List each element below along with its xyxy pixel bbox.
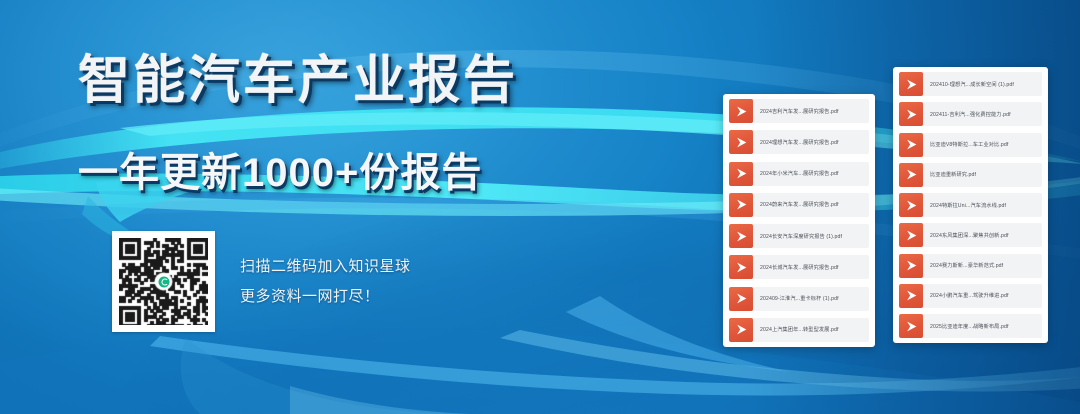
file-name: 比亚迪V8特斯拉...车工业对比.pdf: [923, 141, 1042, 148]
file-row[interactable]: 2024东风集团深...聚焦共创新.pdf: [899, 223, 1042, 247]
file-row[interactable]: 2024上汽集团年...转型型发展.pdf: [729, 318, 869, 342]
file-name: 2024长安汽车深度研究报告 (1).pdf: [753, 233, 869, 240]
file-row[interactable]: 202410-理想汽...成长新空间 (1).pdf: [899, 72, 1042, 96]
pdf-icon: [899, 133, 923, 157]
file-name: 2024小鹏汽车重...驾驶升维进.pdf: [923, 292, 1042, 299]
file-row[interactable]: 2024长安汽车深度研究报告 (1).pdf: [729, 224, 869, 248]
file-row[interactable]: 2025比亚迪年度...战略新布局.pdf: [899, 314, 1042, 338]
pdf-icon: [899, 102, 923, 126]
file-row[interactable]: 2024理想汽车发...展研究报告.pdf: [729, 130, 869, 154]
file-name: 2024上汽集团年...转型型发展.pdf: [753, 326, 869, 333]
pdf-icon: [729, 162, 753, 186]
file-panel-right[interactable]: 202410-理想汽...成长新空间 (1).pdf202411-吉利汽...强…: [893, 67, 1048, 343]
pdf-icon: [899, 314, 923, 338]
headline-block: 智能汽车产业报告 一年更新1000+份报告: [78, 52, 678, 198]
qr-caption-line-2: 更多资料一网打尽！: [240, 282, 411, 311]
qr-code[interactable]: [112, 231, 215, 332]
pdf-icon: [729, 224, 753, 248]
file-row[interactable]: 2024蔚来汽车发...展研究报告.pdf: [729, 193, 869, 217]
file-row[interactable]: 比亚迪重新研究.pdf: [899, 163, 1042, 187]
file-name: 202409-江淮汽...重卡标杆 (1).pdf: [753, 295, 869, 302]
pdf-icon: [729, 318, 753, 342]
pdf-icon: [729, 287, 753, 311]
file-name: 2024理想汽车发...展研究报告.pdf: [753, 139, 869, 146]
banner-headline: 智能汽车产业报告: [78, 52, 678, 110]
pdf-icon: [899, 254, 923, 278]
qr-caption: 扫描二维码加入知识星球 更多资料一网打尽！: [240, 252, 411, 311]
file-row[interactable]: 2024特斯拉Uni...汽车流水线.pdf: [899, 193, 1042, 217]
pdf-icon: [899, 72, 923, 96]
file-name: 2024特斯拉Uni...汽车流水线.pdf: [923, 202, 1042, 209]
pdf-icon: [729, 99, 753, 123]
file-name: 2024吉利汽车发...展研究报告.pdf: [753, 108, 869, 115]
qr-block: 扫描二维码加入知识星球 更多资料一网打尽！: [112, 231, 411, 332]
file-row[interactable]: 2024年小米汽车...展研究报告.pdf: [729, 162, 869, 186]
qr-caption-line-1: 扫描二维码加入知识星球: [240, 252, 411, 281]
pdf-icon: [729, 130, 753, 154]
pdf-icon: [899, 223, 923, 247]
file-panel-left[interactable]: 2024吉利汽车发...展研究报告.pdf2024理想汽车发...展研究报告.p…: [723, 94, 875, 347]
file-name: 2024年小米汽车...展研究报告.pdf: [753, 170, 869, 177]
file-name: 2024赛力斯新...豪华新范式.pdf: [923, 262, 1042, 269]
pdf-icon: [729, 255, 753, 279]
file-name: 2024东风集团深...聚焦共创新.pdf: [923, 232, 1042, 239]
file-name: 202410-理想汽...成长新空间 (1).pdf: [923, 81, 1042, 88]
file-name: 2024长城汽车发...展研究报告.pdf: [753, 264, 869, 271]
pdf-icon: [899, 163, 923, 187]
file-row[interactable]: 2024长城汽车发...展研究报告.pdf: [729, 255, 869, 279]
file-row[interactable]: 2024赛力斯新...豪华新范式.pdf: [899, 254, 1042, 278]
file-row[interactable]: 比亚迪V8特斯拉...车工业对比.pdf: [899, 133, 1042, 157]
file-name: 2025比亚迪年度...战略新布局.pdf: [923, 323, 1042, 330]
file-row[interactable]: 2024小鹏汽车重...驾驶升维进.pdf: [899, 284, 1042, 308]
file-row[interactable]: 202411-吉利汽...强化费控能力.pdf: [899, 102, 1042, 126]
file-name: 2024蔚来汽车发...展研究报告.pdf: [753, 201, 869, 208]
pdf-icon: [899, 284, 923, 308]
qr-center-logo-icon: [156, 274, 171, 289]
promo-banner: 智能汽车产业报告 一年更新1000+份报告 扫描二维码加入知识星球 更多资料一网…: [0, 0, 1080, 414]
file-name: 202411-吉利汽...强化费控能力.pdf: [923, 111, 1042, 118]
file-row[interactable]: 202409-江淮汽...重卡标杆 (1).pdf: [729, 287, 869, 311]
file-row[interactable]: 2024吉利汽车发...展研究报告.pdf: [729, 99, 869, 123]
file-name: 比亚迪重新研究.pdf: [923, 171, 1042, 178]
pdf-icon: [729, 193, 753, 217]
pdf-icon: [899, 193, 923, 217]
banner-subheadline: 一年更新1000+份报告: [78, 140, 678, 198]
